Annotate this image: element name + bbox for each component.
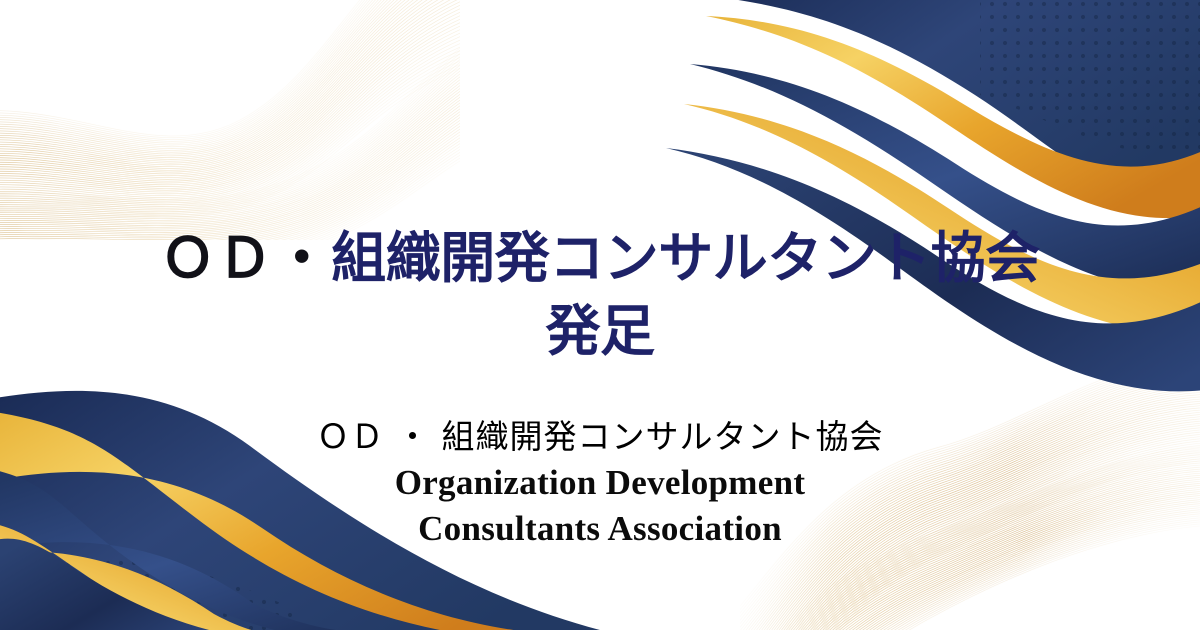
title-latin-prefix: ＯＤ・ — [160, 226, 331, 290]
title-line-1: ＯＤ・組織開発コンサルタント協会 — [0, 222, 1200, 295]
subtitle-group: ＯＤ ・ 組織開発コンサルタント協会 Organization Developm… — [0, 414, 1200, 552]
poster-canvas: ＯＤ・組織開発コンサルタント協会 発足 ＯＤ ・ 組織開発コンサルタント協会 O… — [0, 0, 1200, 630]
poster-content: ＯＤ・組織開発コンサルタント協会 発足 ＯＤ ・ 組織開発コンサルタント協会 O… — [0, 0, 1200, 630]
main-title: ＯＤ・組織開発コンサルタント協会 発足 — [0, 222, 1200, 368]
subtitle-english-line-2: Consultants Association — [0, 506, 1200, 552]
subtitle-english-line-1: Organization Development — [0, 460, 1200, 506]
title-line-2: 発足 — [0, 295, 1200, 368]
title-japanese-main: 組織開発コンサルタント協会 — [331, 226, 1040, 290]
subtitle-japanese: ＯＤ ・ 組織開発コンサルタント協会 — [0, 414, 1200, 460]
